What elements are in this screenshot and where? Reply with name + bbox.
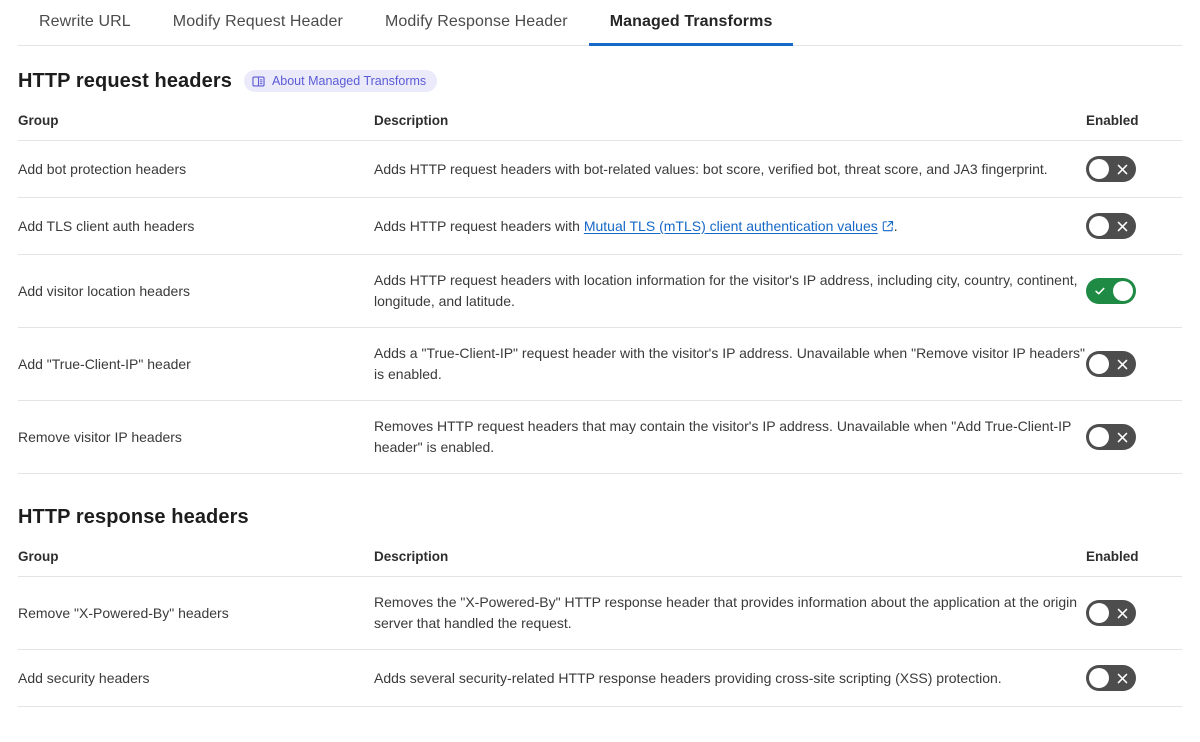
http-request-headers-section: HTTP request headers About Managed Trans… (0, 68, 1200, 474)
table-row: Add visitor location headers Adds HTTP r… (18, 255, 1182, 328)
toggle-knob (1089, 216, 1109, 236)
external-link-icon[interactable] (882, 217, 894, 229)
column-header-description: Description (374, 548, 1086, 577)
row-group-name: Remove "X-Powered-By" headers (18, 577, 374, 650)
close-icon (1110, 351, 1134, 377)
description-text-before: Adds HTTP request headers with (374, 218, 584, 234)
tab-list: Rewrite URL Modify Request Header Modify… (18, 0, 1182, 46)
tab-modify-request-header[interactable]: Modify Request Header (152, 0, 364, 46)
tab-modify-response-header[interactable]: Modify Response Header (364, 0, 589, 46)
row-enabled-cell (1086, 328, 1182, 401)
row-enabled-cell (1086, 141, 1182, 198)
row-group-name: Add bot protection headers (18, 141, 374, 198)
row-description: Removes the "X-Powered-By" HTTP response… (374, 577, 1086, 650)
toggle-knob (1113, 281, 1133, 301)
row-description: Adds several security-related HTTP respo… (374, 650, 1086, 707)
toggle-add-bot-protection-headers[interactable] (1086, 156, 1136, 182)
row-description: Removes HTTP request headers that may co… (374, 401, 1086, 474)
table-row: Remove "X-Powered-By" headers Removes th… (18, 577, 1182, 650)
table-row: Add TLS client auth headers Adds HTTP re… (18, 198, 1182, 255)
row-group-name: Remove visitor IP headers (18, 401, 374, 474)
toggle-add-security-headers[interactable] (1086, 665, 1136, 691)
column-header-group: Group (18, 112, 374, 141)
response-section-header: HTTP response headers (18, 504, 1182, 530)
tab-bar: Rewrite URL Modify Request Header Modify… (0, 0, 1200, 46)
row-enabled-cell (1086, 255, 1182, 328)
table-header-row: Group Description Enabled (18, 112, 1182, 141)
table-row: Add bot protection headers Adds HTTP req… (18, 141, 1182, 198)
row-group-name: Add security headers (18, 650, 374, 707)
column-header-enabled: Enabled (1086, 112, 1182, 141)
table-row: Add security headers Adds several securi… (18, 650, 1182, 707)
row-description: Adds HTTP request headers with location … (374, 255, 1086, 328)
tab-label: Modify Response Header (385, 13, 568, 30)
spacer (18, 530, 1182, 548)
row-group-name: Add visitor location headers (18, 255, 374, 328)
check-icon (1088, 278, 1112, 304)
spacer (0, 46, 1200, 68)
table-row: Remove visitor IP headers Removes HTTP r… (18, 401, 1182, 474)
row-group-name: Add "True-Client-IP" header (18, 328, 374, 401)
column-header-enabled: Enabled (1086, 548, 1182, 577)
row-enabled-cell (1086, 650, 1182, 707)
column-header-group: Group (18, 548, 374, 577)
toggle-remove-visitor-ip-headers[interactable] (1086, 424, 1136, 450)
close-icon (1110, 665, 1134, 691)
close-icon (1110, 424, 1134, 450)
tab-label: Modify Request Header (173, 13, 343, 30)
http-response-headers-section: HTTP response headers Group Description … (0, 504, 1200, 707)
book-icon (252, 75, 265, 88)
request-section-header: HTTP request headers About Managed Trans… (18, 68, 1182, 94)
toggle-knob (1089, 603, 1109, 623)
toggle-add-tls-client-auth-headers[interactable] (1086, 213, 1136, 239)
spacer (18, 94, 1182, 112)
close-icon (1110, 213, 1134, 239)
row-enabled-cell (1086, 577, 1182, 650)
close-icon (1110, 600, 1134, 626)
row-description: Adds a "True-Client-IP" request header w… (374, 328, 1086, 401)
tab-rewrite-url[interactable]: Rewrite URL (18, 0, 152, 46)
description-text-after: . (894, 218, 898, 234)
row-description: Adds HTTP request headers with bot-relat… (374, 141, 1086, 198)
table-row: Add "True-Client-IP" header Adds a "True… (18, 328, 1182, 401)
row-group-name: Add TLS client auth headers (18, 198, 374, 255)
response-section-title: HTTP response headers (18, 504, 249, 530)
toggle-knob (1089, 354, 1109, 374)
close-icon (1110, 156, 1134, 182)
tab-label: Rewrite URL (39, 13, 131, 30)
spacer (0, 474, 1200, 504)
toggle-knob (1089, 668, 1109, 688)
about-managed-transforms-chip[interactable]: About Managed Transforms (244, 70, 437, 92)
tab-label: Managed Transforms (610, 13, 773, 30)
toggle-knob (1089, 427, 1109, 447)
request-section-title: HTTP request headers (18, 68, 232, 94)
row-enabled-cell (1086, 401, 1182, 474)
mtls-documentation-link[interactable]: Mutual TLS (mTLS) client authentication … (584, 218, 878, 234)
row-enabled-cell (1086, 198, 1182, 255)
toggle-add-visitor-location-headers[interactable] (1086, 278, 1136, 304)
row-description: Adds HTTP request headers with Mutual TL… (374, 198, 1086, 255)
toggle-knob (1089, 159, 1109, 179)
about-chip-label: About Managed Transforms (272, 73, 426, 89)
toggle-add-true-client-ip-header[interactable] (1086, 351, 1136, 377)
toggle-remove-x-powered-by-headers[interactable] (1086, 600, 1136, 626)
request-headers-table: Group Description Enabled Add bot protec… (18, 112, 1182, 474)
tab-managed-transforms[interactable]: Managed Transforms (589, 0, 794, 46)
column-header-description: Description (374, 112, 1086, 141)
table-header-row: Group Description Enabled (18, 548, 1182, 577)
response-headers-table: Group Description Enabled Remove "X-Powe… (18, 548, 1182, 707)
